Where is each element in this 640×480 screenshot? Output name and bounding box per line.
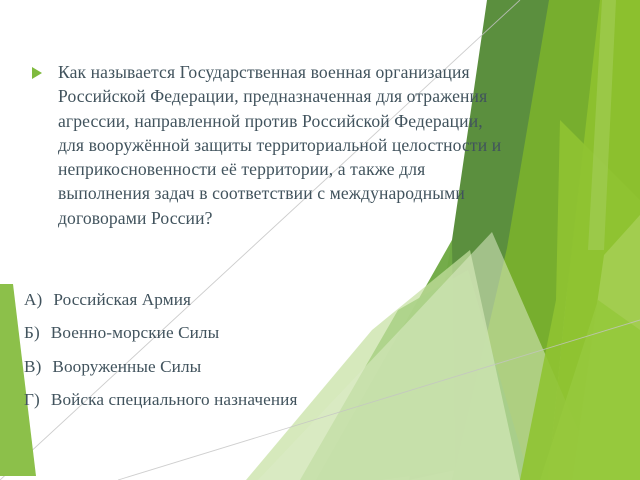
answer-letter-a: А) [24, 283, 42, 316]
answer-option-a[interactable]: А)Российская Армия [24, 283, 544, 316]
answer-option-v[interactable]: В)Вооруженные Силы [24, 350, 544, 383]
answer-label-v: Вооруженные Силы [41, 350, 201, 383]
answer-letter-b: Б) [24, 316, 40, 349]
answer-letter-g: Г) [24, 383, 40, 416]
question-text: Как называется Государственная военная о… [58, 60, 504, 230]
answer-option-b[interactable]: Б)Военно-морские Силы [24, 316, 544, 349]
answer-options-list: А)Российская Армия Б)Военно-морские Силы… [24, 283, 544, 416]
answer-option-g[interactable]: Г)Войска специального назначения [24, 383, 544, 416]
answer-letter-v: В) [24, 350, 41, 383]
answer-label-a: Российская Армия [42, 283, 191, 316]
answer-label-b: Военно-морские Силы [40, 316, 219, 349]
presentation-slide: Как называется Государственная военная о… [0, 0, 640, 480]
slide-content: Как называется Государственная военная о… [0, 0, 640, 480]
triangle-right-bullet-icon [32, 67, 42, 79]
question-bullet [32, 60, 58, 79]
question-block: Как называется Государственная военная о… [32, 60, 504, 230]
answer-label-g: Войска специального назначения [40, 383, 298, 416]
